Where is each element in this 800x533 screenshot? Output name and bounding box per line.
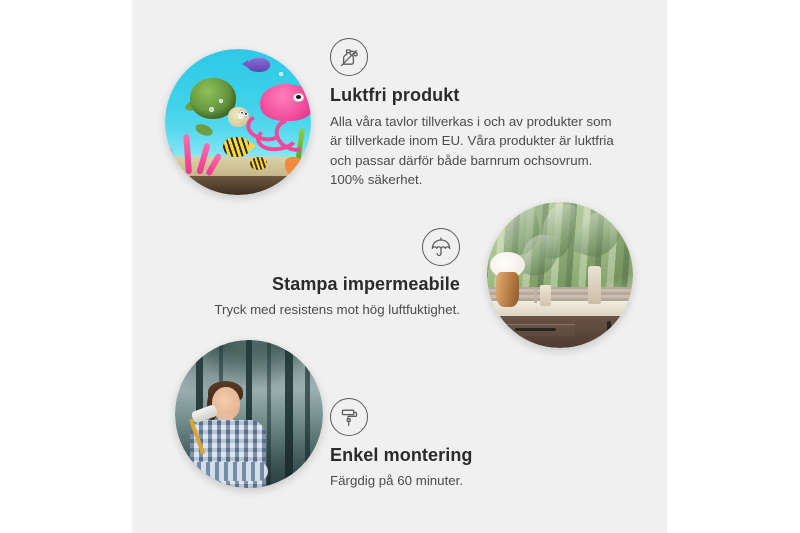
painter-forest-photo [175,340,323,488]
octopus-head [260,84,311,121]
feature-description: Alla våra tavlor tillverkas i och av pro… [330,112,626,190]
feature-description: Färgdig på 60 minuter. [330,471,600,490]
feature-easy-install: Enkel montering Färgdig på 60 minuter. [330,398,600,490]
turtle-eye [243,112,248,117]
small-fish [250,157,268,170]
painter-photo-inner [175,340,323,488]
feature-description: Tryck med resistens mot hög luftfuktighe… [196,300,460,319]
bathroom-photo-inner [487,202,633,348]
cabinet-handle [624,321,628,339]
underwater-cartoon-photo [165,49,311,195]
purple-fish [247,58,270,73]
feature-waterproof: Stampa impermeabile Tryck med resistens … [196,228,460,319]
feature-title: Enkel montering [330,445,600,466]
umbrella-icon [422,228,460,266]
wallpaper-leaf [571,205,625,264]
bathroom-wallpaper-photo [487,202,633,348]
no-perfume-bottle-icon [330,38,368,76]
soap-dish [540,285,552,305]
feature-panel-page: Luktfri produkt Alla våra tavlor tillver… [0,0,800,533]
gold-vase [496,272,519,307]
underwater-photo-inner [165,49,311,195]
feature-title: Luktfri produkt [330,85,626,106]
cabinet-handle [607,321,611,339]
octopus-illustration [250,84,311,148]
paint-roller-icon [330,398,368,436]
toiletry-bottle [588,266,601,304]
wood-vanity-cabinet [496,316,633,348]
bubble [219,99,223,103]
coral-decoration [171,131,215,175]
feature-odourless: Luktfri produkt Alla våra tavlor tillver… [330,38,626,190]
faucet [534,290,537,303]
folded-arms [188,462,268,482]
sea-turtle-illustration [185,78,246,128]
yellow-fish [223,137,249,157]
sea-floor-band [165,176,311,195]
woman-painter [187,378,270,488]
feature-title: Stampa impermeabile [196,274,460,295]
drawer-handle [515,328,556,331]
octopus-eye [293,93,305,102]
